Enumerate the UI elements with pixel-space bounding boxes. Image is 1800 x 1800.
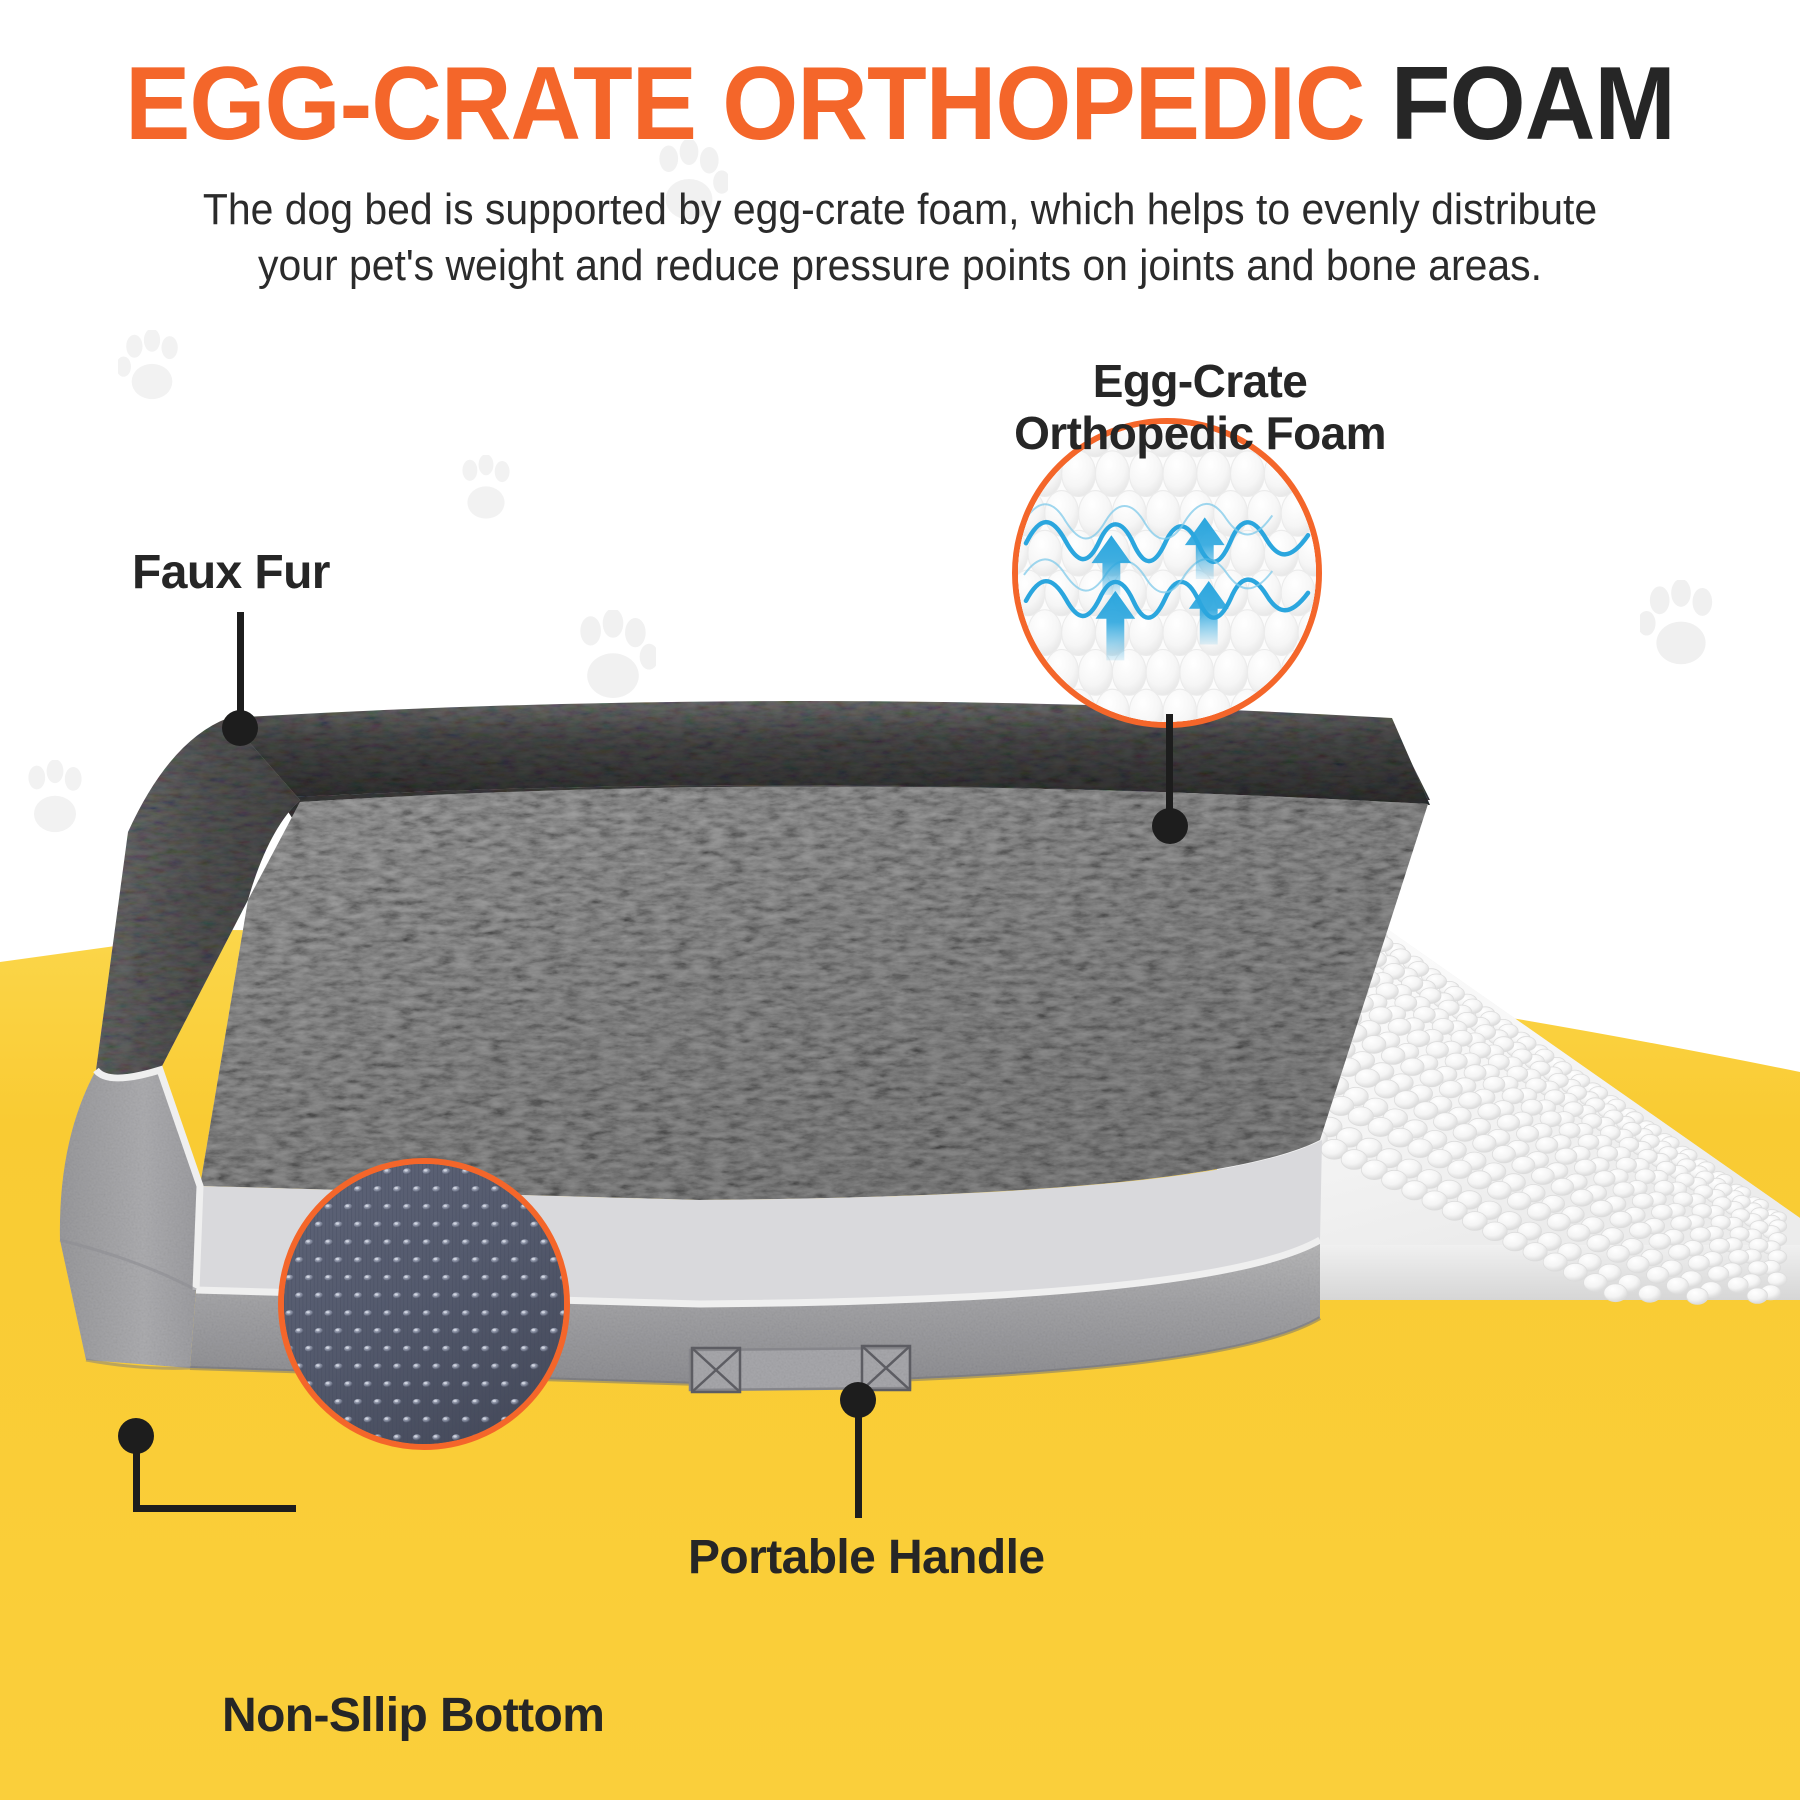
callout-foam-line-2: Orthopedic Foam [900, 407, 1500, 459]
infographic-canvas: EGG-CRATE ORTHOPEDIC FOAM The dog bed is… [0, 0, 1800, 1800]
callout-faux-fur: Faux Fur [132, 545, 330, 600]
leader-line-segment [133, 1505, 296, 1512]
callout-foam-line-1: Egg-Crate [900, 355, 1500, 407]
callout-portable-handle: Portable Handle [688, 1530, 1044, 1585]
callout-egg-crate-foam: Egg-Crate Orthopedic Foam [900, 355, 1500, 460]
callout-non-slip-bottom: Non-Sllip Bottom [222, 1688, 604, 1743]
leader-line-segment [133, 1444, 140, 1510]
